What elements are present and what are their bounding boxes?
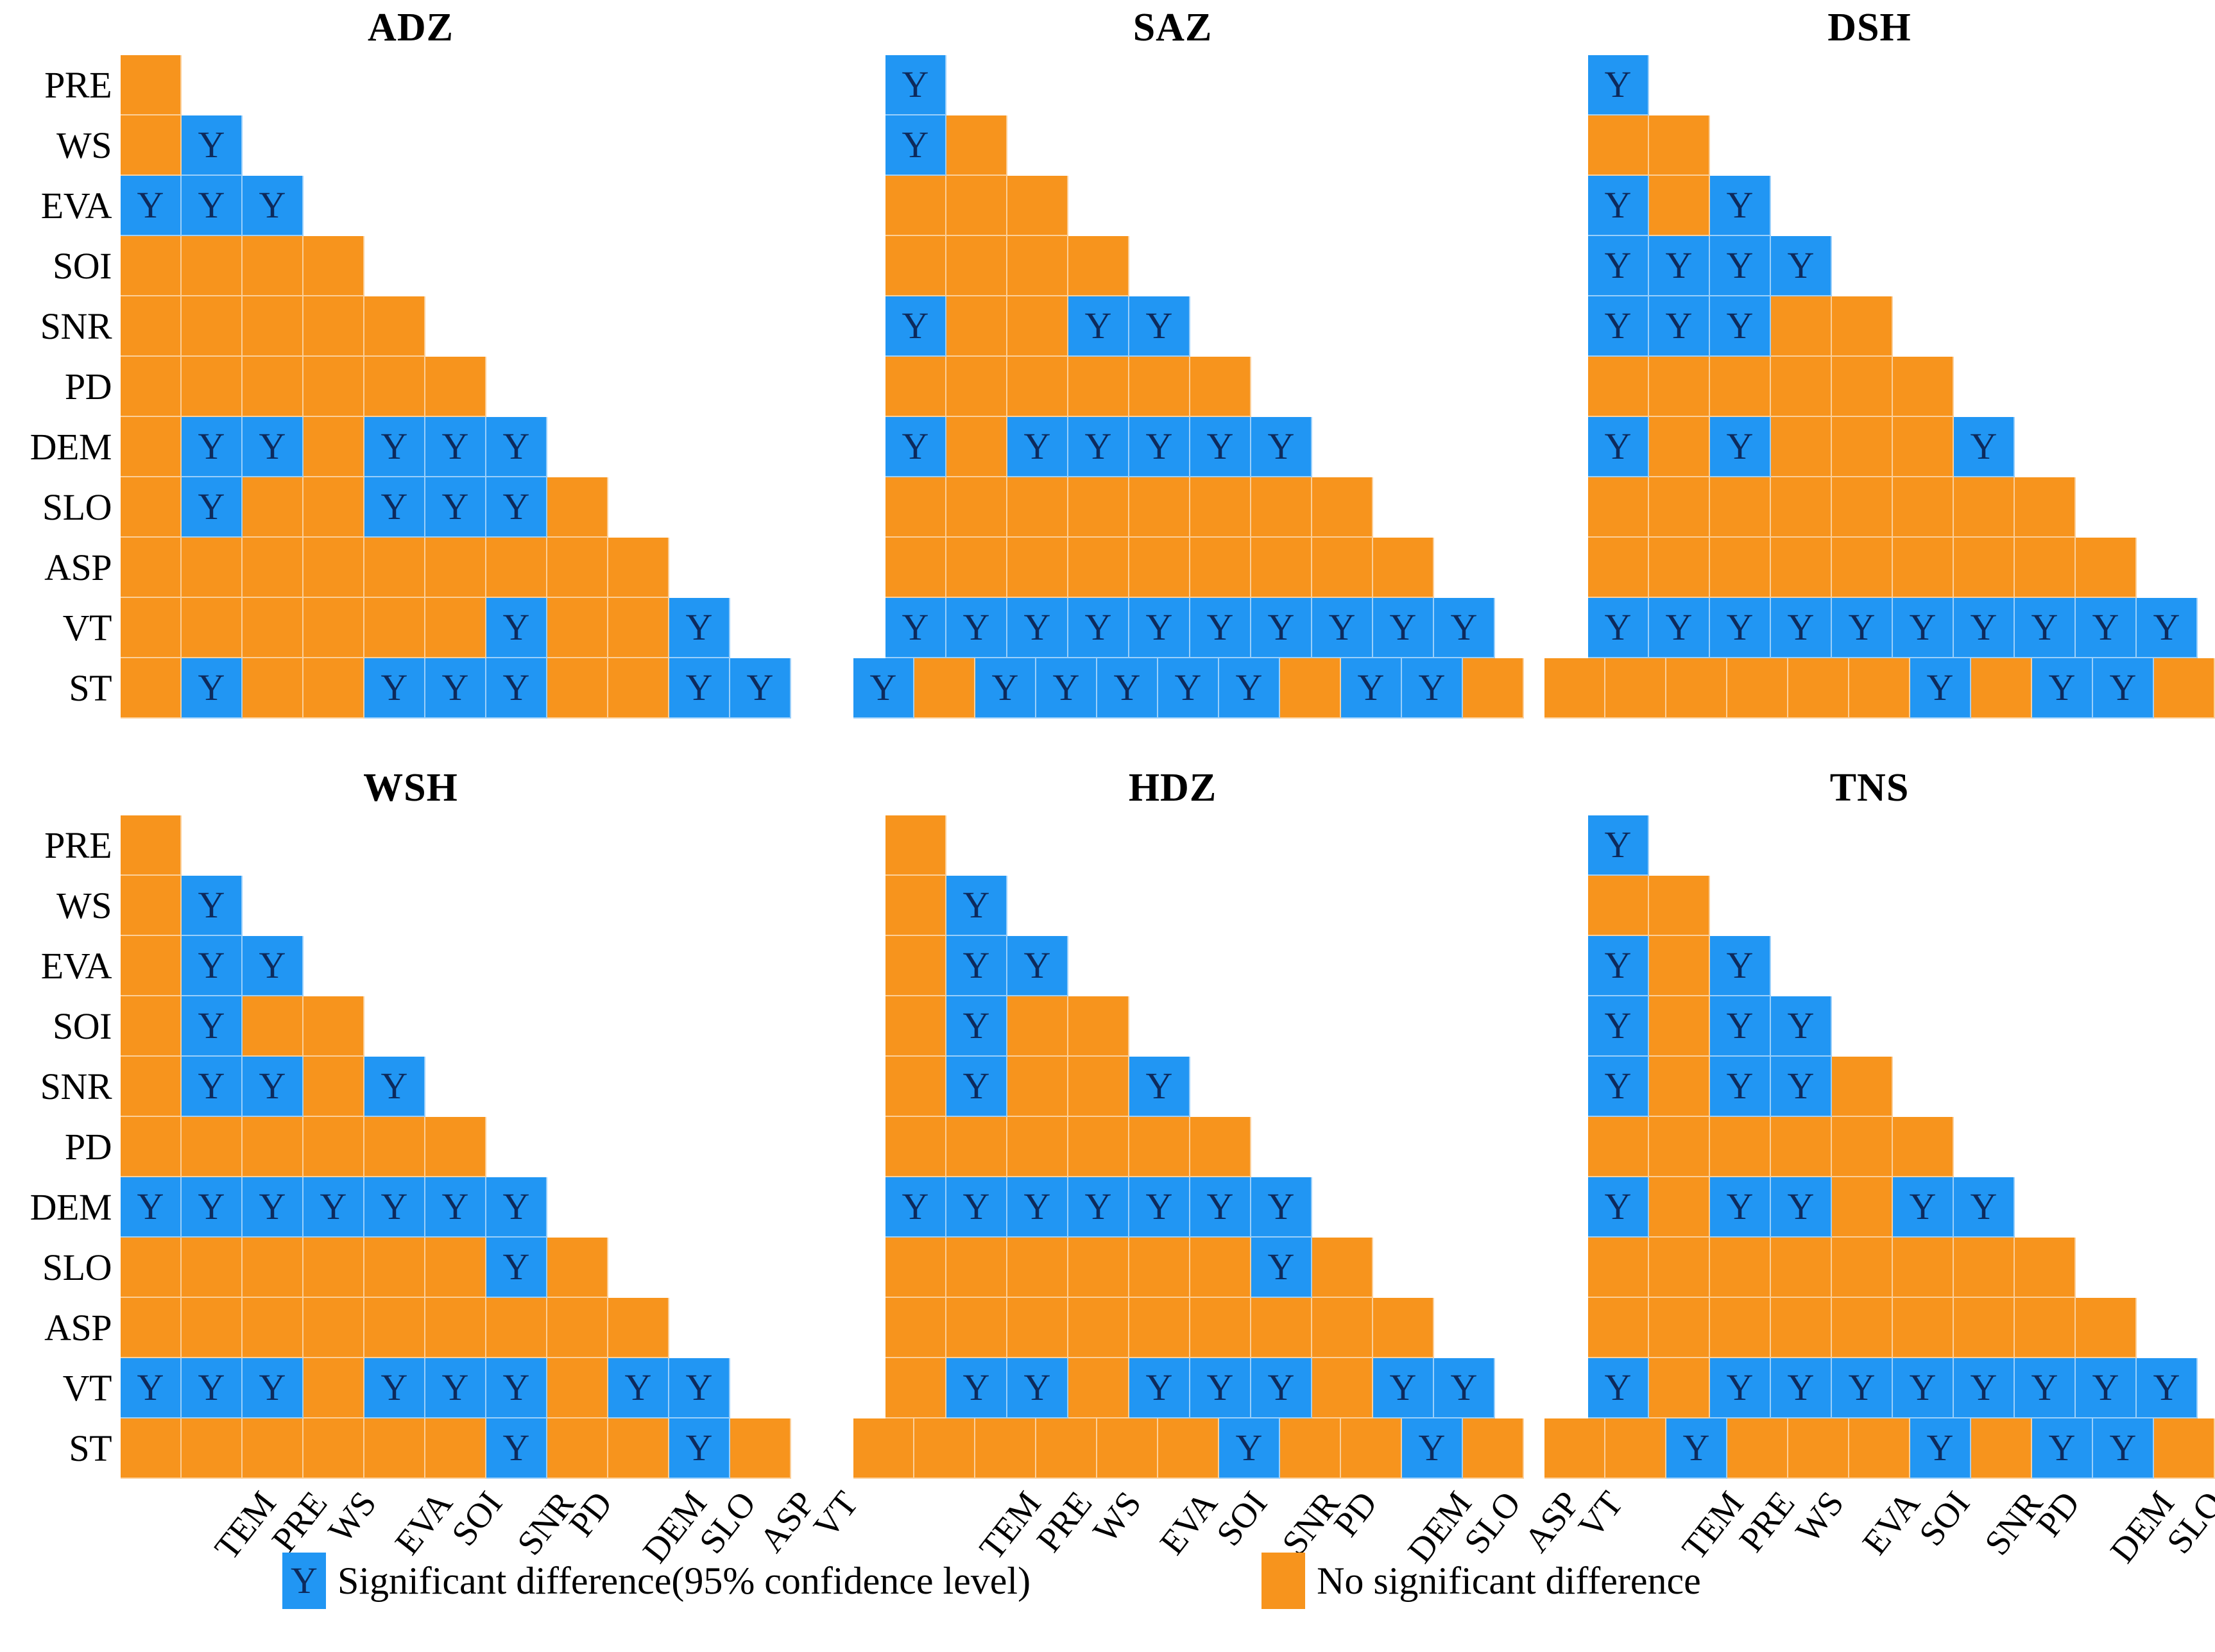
matrix-row: Y — [1524, 55, 2215, 115]
figure-root: ADZ PREWSYEVAYYYSOISNRPDDEMYYYYYSLOYYYYA… — [0, 0, 2215, 1652]
matrix-row: YYY — [1524, 296, 2215, 357]
cell-VT-PD: Y — [1251, 1358, 1312, 1418]
matrix-ADZ: PREWSYEVAYYYSOISNRPDDEMYYYYYSLOYYYYASPVT… — [0, 55, 821, 719]
cell-ASP-PD — [1954, 1298, 2015, 1358]
cell-ST-TEM — [121, 658, 182, 719]
cell-ST-DEM — [547, 658, 608, 719]
matrix-cells — [885, 176, 1068, 236]
cell-SLO-EVA — [1068, 1238, 1129, 1298]
cell-DEM-SNR: Y — [425, 417, 486, 477]
cell-DEM-PRE: Y — [946, 1177, 1007, 1238]
cell-PD-PRE — [946, 357, 1007, 417]
cell-PD-PRE — [946, 1117, 1007, 1177]
cell-SNR-SOI: Y — [364, 1057, 425, 1117]
cell-PD-SOI — [1129, 1117, 1190, 1177]
matrix-TNS: YYYYYYYYYYYYYYYYYYYYYYYYYYY — [1524, 815, 2215, 1479]
cell-ASP-DEM — [1312, 538, 1373, 598]
cell-VT-WS — [243, 598, 304, 658]
cell-PRE-TEM — [885, 815, 946, 876]
cell-PRE-TEM: Y — [885, 55, 946, 115]
cell-DEM-SNR — [1893, 417, 1954, 477]
cell-ST-EVA — [1727, 1418, 1788, 1479]
cell-SNR-PRE — [182, 296, 243, 357]
matrix-row — [821, 236, 1524, 296]
matrix-cells: YYYYYYYYYY — [1588, 598, 2198, 658]
matrix-row: EVAYYY — [0, 176, 821, 236]
cell-ASP-SLO — [2076, 538, 2137, 598]
cell-ASP-SLO — [608, 1298, 669, 1358]
cell-ASP-PD — [486, 538, 547, 598]
cell-VT-WS: Y — [1710, 1358, 1771, 1418]
row-label-WS: WS — [0, 127, 121, 164]
matrix-cells: YY — [121, 936, 304, 996]
matrix-cells: Y — [885, 55, 946, 115]
cell-ASP-PD — [1954, 538, 2015, 598]
cell-PD-SOI — [1832, 357, 1893, 417]
matrix-cells: YYY — [1588, 996, 1832, 1057]
cell-ASP-SLO — [2076, 1298, 2137, 1358]
cell-ASP-SOI — [1129, 1298, 1190, 1358]
cell-VT-SOI: Y — [1129, 598, 1190, 658]
legend: Y Significant difference(95% confidence … — [0, 1553, 2215, 1609]
cell-VT-SOI — [364, 598, 425, 658]
cell-ST-SOI — [1788, 658, 1849, 719]
cell-ST-SLO: Y — [1341, 658, 1402, 719]
matrix-cells — [1588, 477, 2076, 538]
matrix-row: YYYYYYYYYY — [821, 598, 1524, 658]
cell-DEM-TEM: Y — [885, 417, 946, 477]
matrix-cells — [885, 477, 1373, 538]
cell-SNR-EVA — [1068, 1057, 1129, 1117]
cell-SLO-DEM — [2015, 1238, 2076, 1298]
cell-ASP-SNR — [1190, 538, 1251, 598]
cell-SLO-PD: Y — [1251, 1238, 1312, 1298]
matrix-cells: YYYYY — [1588, 1177, 2015, 1238]
cell-PD-PRE — [1649, 357, 1710, 417]
cell-PD-SNR — [1893, 357, 1954, 417]
cell-ST-WS — [243, 658, 304, 719]
cell-EVA-WS: Y — [243, 176, 304, 236]
cell-DEM-PD: Y — [486, 1177, 547, 1238]
cell-SOI-EVA: Y — [1771, 236, 1832, 296]
cell-SLO-PD — [1954, 477, 2015, 538]
matrix-cells: YY — [885, 1057, 1190, 1117]
matrix-cells — [121, 55, 182, 115]
cell-SNR-WS — [1007, 296, 1068, 357]
cell-SLO-SOI — [364, 1238, 425, 1298]
cell-ASP-SOI — [364, 538, 425, 598]
cell-VT-WS: Y — [1007, 598, 1068, 658]
cell-SNR-PRE — [946, 296, 1007, 357]
matrix-cells: YYYY — [1544, 1418, 2215, 1479]
cell-ST-SNR — [1849, 1418, 1910, 1479]
panel-title-WSH: WSH — [0, 760, 821, 815]
panel-row-top: ADZ PREWSYEVAYYYSOISNRPDDEMYYYYYSLOYYYYA… — [0, 0, 2215, 719]
cell-SLO-DEM — [1312, 477, 1373, 538]
cell-SLO-TEM — [121, 477, 182, 538]
matrix-cells — [1588, 876, 1710, 936]
matrix-row: YYY — [1524, 996, 2215, 1057]
cell-ASP-PRE — [1649, 1298, 1710, 1358]
cell-ASP-SOI — [1832, 1298, 1893, 1358]
legend-label-significant: Significant difference(95% confidence le… — [338, 1562, 1031, 1600]
matrix-row: WSY — [0, 115, 821, 176]
cell-WS-TEM — [1588, 115, 1649, 176]
cell-EVA-TEM: Y — [121, 176, 182, 236]
cell-ST-SNR: Y — [425, 658, 486, 719]
matrix-row: SLOY — [0, 1238, 821, 1298]
cell-DEM-EVA — [1771, 417, 1832, 477]
cell-PRE-TEM: Y — [1588, 815, 1649, 876]
cell-DEM-PRE — [1649, 417, 1710, 477]
cell-SLO-TEM — [1588, 477, 1649, 538]
cell-SLO-TEM — [885, 1238, 946, 1298]
cell-SLO-DEM — [547, 477, 608, 538]
cell-DEM-PD: Y — [1251, 1177, 1312, 1238]
cell-SLO-DEM — [547, 1238, 608, 1298]
legend-item-not-significant: No significant difference — [1261, 1553, 1701, 1609]
cell-EVA-TEM: Y — [1588, 936, 1649, 996]
matrix-cells: Y — [121, 876, 243, 936]
cell-VT-TEM — [121, 598, 182, 658]
cell-VT-DEM: Y — [1312, 598, 1373, 658]
cell-ST-WS: Y — [1666, 1418, 1727, 1479]
cell-VT-PRE — [182, 598, 243, 658]
cell-ASP-PD — [486, 1298, 547, 1358]
cell-ST-ASP: Y — [669, 1418, 730, 1479]
cell-SNR-WS — [243, 296, 304, 357]
cell-VT-PD: Y — [1251, 598, 1312, 658]
matrix-row: SOIY — [0, 996, 821, 1057]
panel-row-bottom: WSH PREWSYEVAYYSOIYSNRYYYPDDEMYYYYYYYSLO… — [0, 760, 2215, 1617]
cell-SOI-TEM — [885, 996, 946, 1057]
cell-VT-DEM: Y — [2015, 598, 2076, 658]
cell-ST-EVA — [304, 658, 364, 719]
cell-EVA-PRE — [1649, 936, 1710, 996]
matrix-cells: YYYYYY — [885, 417, 1312, 477]
cell-DEM-TEM: Y — [1588, 1177, 1649, 1238]
cell-ST-TEM — [1544, 1418, 1605, 1479]
cell-SOI-TEM: Y — [1588, 996, 1649, 1057]
matrix-cells: YY — [885, 936, 1068, 996]
matrix-cells: YY — [1588, 176, 1771, 236]
cell-PD-EVA — [1771, 1117, 1832, 1177]
matrix-cells: YYY — [121, 1057, 425, 1117]
matrix-cells: YYYYYYYY — [853, 658, 1524, 719]
cell-SNR-SOI — [364, 296, 425, 357]
matrix-cells — [1588, 1238, 2076, 1298]
cell-SOI-TEM — [121, 996, 182, 1057]
cell-SOI-EVA — [1068, 236, 1129, 296]
cell-VT-TEM: Y — [1588, 1358, 1649, 1418]
cell-ST-SNR — [425, 1418, 486, 1479]
cell-ASP-TEM — [121, 538, 182, 598]
cell-ST-TEM: Y — [853, 658, 914, 719]
cell-ST-WS — [1666, 658, 1727, 719]
matrix-row: WSY — [0, 876, 821, 936]
cell-ST-PD: Y — [486, 1418, 547, 1479]
cell-VT-PRE: Y — [946, 1358, 1007, 1418]
cell-SNR-TEM: Y — [885, 296, 946, 357]
matrix-cells — [121, 296, 425, 357]
cell-ST-ASP: Y — [2093, 658, 2154, 719]
matrix-cells: YY — [121, 598, 730, 658]
cell-SNR-PRE — [1649, 1057, 1710, 1117]
cell-SLO-SOI — [1129, 1238, 1190, 1298]
row-label-WS: WS — [0, 887, 121, 924]
legend-swatch-not-significant — [1261, 1553, 1305, 1609]
cell-ST-VT — [730, 1418, 791, 1479]
cell-SOI-PRE: Y — [1649, 236, 1710, 296]
xtick-WS: WS — [322, 1485, 382, 1549]
cell-DEM-PD: Y — [1954, 417, 2015, 477]
cell-DEM-SOI — [1832, 417, 1893, 477]
xtick-WS: WS — [1087, 1485, 1147, 1549]
cell-DEM-SOI: Y — [364, 417, 425, 477]
row-label-SOI: SOI — [0, 248, 121, 285]
cell-PD-EVA — [1068, 357, 1129, 417]
cell-DEM-EVA: Y — [1068, 417, 1129, 477]
cell-SLO-DEM — [2015, 477, 2076, 538]
cell-ST-PD: Y — [1910, 1418, 1971, 1479]
xtick-PD: PD — [563, 1485, 619, 1542]
matrix-row: YYY — [1524, 1057, 2215, 1117]
cell-ASP-WS — [1007, 538, 1068, 598]
cell-ASP-SNR — [425, 538, 486, 598]
cell-VT-SNR: Y — [1190, 1358, 1251, 1418]
matrix-row: PD — [0, 1117, 821, 1177]
matrix-row — [821, 357, 1524, 417]
matrix-cells — [121, 236, 364, 296]
cell-ST-TEM — [853, 1418, 914, 1479]
matrix-cells — [885, 236, 1129, 296]
cell-VT-SLO: Y — [2076, 598, 2137, 658]
cell-DEM-SNR: Y — [425, 1177, 486, 1238]
cell-ST-SOI — [1788, 1418, 1849, 1479]
cell-EVA-PRE — [1649, 176, 1710, 236]
cell-PRE-TEM — [121, 55, 182, 115]
cell-ASP-DEM — [1312, 1298, 1373, 1358]
cell-VT-EVA — [1068, 1358, 1129, 1418]
matrix-cells: Y — [885, 1238, 1373, 1298]
cell-ASP-SNR — [1190, 1298, 1251, 1358]
cell-DEM-SOI: Y — [364, 1177, 425, 1238]
cell-VT-PD: Y — [1954, 1358, 2015, 1418]
cell-ST-EVA: Y — [1036, 658, 1097, 719]
cell-ASP-SLO — [1373, 1298, 1434, 1358]
cell-VT-PD: Y — [486, 598, 547, 658]
cell-ASP-TEM — [885, 538, 946, 598]
cell-ST-SNR — [1849, 658, 1910, 719]
cell-PD-SNR — [425, 1117, 486, 1177]
matrix-cells — [885, 1298, 1434, 1358]
cell-VT-ASP: Y — [2137, 1358, 2198, 1418]
cell-SLO-EVA — [1771, 477, 1832, 538]
matrix-row — [1524, 357, 2215, 417]
row-label-ASP: ASP — [0, 549, 121, 586]
matrix-row: YYYYYYYYYY — [1524, 598, 2215, 658]
matrix-cells: YYY — [885, 296, 1190, 357]
cell-SNR-EVA: Y — [1771, 1057, 1832, 1117]
cell-VT-DEM — [547, 598, 608, 658]
matrix-row: ASP — [0, 538, 821, 598]
cell-SLO-PD: Y — [486, 477, 547, 538]
matrix-cells: YYY — [1588, 417, 2015, 477]
matrix-row: Y — [821, 1238, 1524, 1298]
cell-ASP-SOI — [364, 1298, 425, 1358]
matrix-cells — [121, 538, 669, 598]
cell-VT-SOI: Y — [1832, 1358, 1893, 1418]
matrix-cells: YYYYYYYYYY — [885, 598, 1495, 658]
cell-DEM-EVA: Y — [1068, 1177, 1129, 1238]
cell-ASP-TEM — [121, 1298, 182, 1358]
cell-EVA-PRE: Y — [182, 936, 243, 996]
matrix-cells — [885, 1117, 1251, 1177]
matrix-row — [1524, 115, 2215, 176]
row-label-SNR: SNR — [0, 308, 121, 345]
cell-PD-WS — [243, 1117, 304, 1177]
cell-VT-SNR: Y — [1893, 598, 1954, 658]
cell-VT-SNR: Y — [1190, 598, 1251, 658]
cell-PD-TEM — [1588, 1117, 1649, 1177]
cell-SLO-TEM — [121, 1238, 182, 1298]
cell-SLO-WS — [243, 477, 304, 538]
cell-SNR-PRE: Y — [182, 1057, 243, 1117]
cell-DEM-TEM — [121, 417, 182, 477]
cell-DEM-SOI: Y — [1129, 1177, 1190, 1238]
cell-PD-PRE — [1649, 1117, 1710, 1177]
row-label-SLO: SLO — [0, 489, 121, 526]
matrix-cells: YY — [121, 1418, 791, 1479]
row-label-DEM: DEM — [0, 429, 121, 466]
cell-VT-WS: Y — [1710, 598, 1771, 658]
cell-SOI-PRE — [946, 236, 1007, 296]
cell-PD-WS — [1007, 1117, 1068, 1177]
cell-ASP-PD — [1251, 1298, 1312, 1358]
row-label-EVA: EVA — [0, 948, 121, 985]
cell-VT-ASP: Y — [2137, 598, 2198, 658]
cell-VT-ASP: Y — [669, 598, 730, 658]
cell-DEM-PD: Y — [1954, 1177, 2015, 1238]
matrix-cells: Y — [121, 996, 364, 1057]
matrix-row — [1524, 1117, 2215, 1177]
cell-SLO-WS — [243, 1238, 304, 1298]
cell-DEM-PRE — [1649, 1177, 1710, 1238]
matrix-cells — [1588, 357, 1954, 417]
row-label-PD: PD — [0, 1128, 121, 1166]
cell-SNR-SOI — [1832, 1057, 1893, 1117]
cell-PD-WS — [1710, 1117, 1771, 1177]
cell-DEM-WS: Y — [1710, 417, 1771, 477]
panel-TNS: TNS YYYYYYYYYYYYYYYYYYYYYYYYYYY TEMPREWS… — [1524, 760, 2215, 1617]
matrix-row: YYYYYYYYY — [1524, 1358, 2215, 1418]
cell-DEM-SNR: Y — [1893, 1177, 1954, 1238]
matrix-row — [1524, 1298, 2215, 1358]
matrix-HDZ: YYYYYYYYYYYYYYYYYYYYYYY — [821, 815, 1524, 1479]
matrix-row: EVAYY — [0, 936, 821, 996]
cell-PD-WS — [1007, 357, 1068, 417]
cell-DEM-SOI: Y — [1129, 417, 1190, 477]
matrix-cells: Y — [121, 1238, 608, 1298]
cell-ST-VT — [2154, 658, 2215, 719]
panel-WSH: WSH PREWSYEVAYYSOIYSNRYYYPDDEMYYYYYYYSLO… — [0, 760, 821, 1617]
cell-VT-SOI: Y — [1832, 598, 1893, 658]
cell-SNR-WS: Y — [1710, 296, 1771, 357]
cell-VT-DEM: Y — [2015, 1358, 2076, 1418]
cell-PD-TEM — [1588, 357, 1649, 417]
cell-EVA-WS: Y — [243, 936, 304, 996]
cell-PD-SNR — [1893, 1117, 1954, 1177]
cell-ST-PRE — [1605, 1418, 1666, 1479]
cell-SNR-SOI — [1832, 296, 1893, 357]
cell-ASP-WS — [1007, 1298, 1068, 1358]
cell-EVA-WS: Y — [1710, 936, 1771, 996]
cell-ST-PD: Y — [1219, 1418, 1280, 1479]
cell-SLO-PRE: Y — [182, 477, 243, 538]
cell-ASP-SOI — [1832, 538, 1893, 598]
cell-SLO-PRE — [946, 1238, 1007, 1298]
matrix-cells: YYY — [1588, 296, 1893, 357]
matrix-cells — [121, 815, 182, 876]
cell-DEM-SNR: Y — [1190, 1177, 1251, 1238]
cell-PD-SOI — [1832, 1117, 1893, 1177]
cell-VT-WS: Y — [243, 1358, 304, 1418]
cell-ST-SLO — [608, 1418, 669, 1479]
matrix-row: YYYY — [1524, 236, 2215, 296]
cell-ST-EVA — [1036, 1418, 1097, 1479]
matrix-SAZ: YYYYYYYYYYYYYYYYYYYYYYYYYYYYY — [821, 55, 1524, 719]
panel-title-HDZ: HDZ — [821, 760, 1524, 815]
cell-SLO-SOI: Y — [364, 477, 425, 538]
cell-ST-WS — [975, 1418, 1036, 1479]
cell-ASP-SNR — [1893, 1298, 1954, 1358]
cell-VT-EVA: Y — [1771, 1358, 1832, 1418]
cell-WS-PRE — [1649, 876, 1710, 936]
matrix-row: YYYYYY — [821, 417, 1524, 477]
panel-row-gap — [0, 719, 2215, 760]
cell-WS-PRE: Y — [182, 876, 243, 936]
cell-SNR-SOI: Y — [1129, 296, 1190, 357]
cell-EVA-TEM — [885, 176, 946, 236]
cell-VT-PD: Y — [486, 1358, 547, 1418]
matrix-row: YYYYYYY — [821, 1177, 1524, 1238]
cell-ST-PD: Y — [1910, 658, 1971, 719]
cell-WS-TEM — [885, 876, 946, 936]
cell-ST-SLO: Y — [2032, 1418, 2093, 1479]
matrix-cells: YYYY — [121, 477, 608, 538]
cell-DEM-WS: Y — [243, 417, 304, 477]
cell-ST-SNR: Y — [1158, 658, 1219, 719]
cell-DEM-PRE — [946, 417, 1007, 477]
cell-ST-DEM — [1280, 658, 1341, 719]
cell-VT-SLO: Y — [608, 1358, 669, 1418]
matrix-row: PRE — [0, 55, 821, 115]
matrix-WSH: PREWSYEVAYYSOIYSNRYYYPDDEMYYYYYYYSLOYASP… — [0, 815, 821, 1479]
cell-SOI-WS — [243, 236, 304, 296]
matrix-cells — [121, 1117, 486, 1177]
matrix-row: STYY — [0, 1418, 821, 1479]
cell-ST-SLO — [1341, 1418, 1402, 1479]
cell-VT-ASP: Y — [1434, 1358, 1495, 1418]
cell-ST-VT: Y — [730, 658, 791, 719]
cell-SLO-PD — [1954, 1238, 2015, 1298]
cell-WS-PRE: Y — [946, 876, 1007, 936]
cell-SLO-PRE — [1649, 477, 1710, 538]
cell-EVA-PRE: Y — [946, 936, 1007, 996]
cell-SLO-SNR — [1190, 477, 1251, 538]
cell-PD-SOI — [364, 357, 425, 417]
matrix-cells — [885, 357, 1251, 417]
